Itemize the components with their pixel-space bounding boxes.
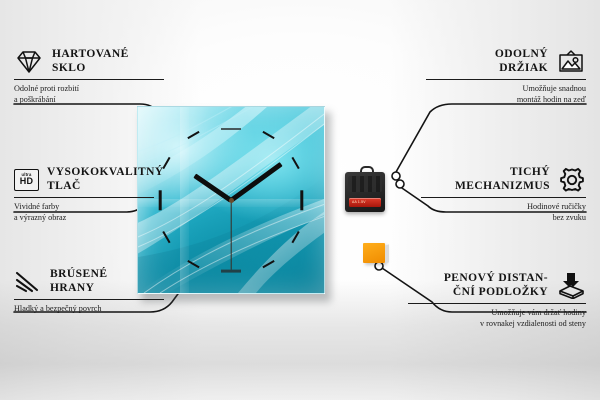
diamond-icon	[14, 49, 44, 75]
wall-clock	[137, 106, 327, 296]
product-infographic: AA 1.5V HARTOVANÉ SKLO Odolné proti rozb…	[0, 0, 600, 400]
picture-hanger-icon	[556, 49, 586, 75]
clock-tick	[301, 190, 304, 210]
connector-hanger	[396, 104, 586, 172]
feature-silent-mechanism: TICHÝ MECHANIZMUS Hodinové ručičky bez z…	[421, 166, 586, 223]
feature-title-line1: HARTOVANÉ	[52, 48, 129, 62]
mechanism-body: AA 1.5V	[345, 172, 385, 212]
feature-divider	[14, 299, 164, 300]
feature-tempered-glass: HARTOVANÉ SKLO Odolné proti rozbití a po…	[14, 48, 164, 105]
connector-dot-mechanism	[396, 180, 404, 188]
feature-title-line2: ČNÍ PODLOŽKY	[444, 286, 548, 300]
feature-title-line2: HRANY	[50, 282, 107, 296]
ultra-hd-icon: ultra HD	[14, 169, 39, 191]
hands-center-cap	[229, 198, 234, 203]
feature-title-line1: ODOLNÝ	[495, 48, 548, 62]
battery: AA 1.5V	[349, 198, 381, 207]
connector-dot-hanger	[392, 172, 400, 180]
feature-desc-line2: bez zvuku	[421, 213, 586, 224]
feature-desc-line1: Hodinové ručičky	[421, 202, 586, 213]
feature-title-line1: PENOVÝ DISTAN-	[444, 272, 548, 286]
feature-foam-spacers: PENOVÝ DISTAN- ČNÍ PODLOŽKY Umožňuje vám…	[408, 272, 586, 329]
mechanism-texture	[348, 176, 382, 192]
feature-desc-line1: Odolné proti rozbití	[14, 84, 164, 95]
feature-desc-line1: Umožňuje vám držať hodiny	[408, 308, 586, 319]
feature-desc-line1: Hladký a bezpečný povrch	[14, 304, 164, 315]
feature-desc-line2: v rovnakej vzdialenosti od steny	[408, 319, 586, 330]
clock-face	[137, 106, 325, 294]
feature-divider	[14, 79, 164, 80]
feature-polished-edges: BRÚSENÉ HRANY Hladký a bezpečný povrch	[14, 268, 164, 315]
feature-divider	[421, 197, 586, 198]
feature-desc-line1: Vividné farby	[14, 202, 154, 213]
second-hand	[230, 200, 231, 270]
feature-durable-hanger: ODOLNÝ DRŽIAK Umožňuje snadnou montáž ho…	[426, 48, 586, 105]
battery-label: AA 1.5V	[352, 200, 366, 204]
feature-desc-line1: Umožňuje snadnou	[426, 84, 586, 95]
feature-title-line1: VYSOKOKVALITNÝ	[47, 166, 164, 180]
feature-title-line2: SKLO	[52, 62, 129, 76]
press-down-pad-icon	[556, 272, 586, 299]
feature-desc-line2: montáž hodin na zeď	[426, 95, 586, 106]
feature-title-line2: MECHANIZMUS	[455, 180, 550, 194]
feature-divider	[426, 79, 586, 80]
foam-spacer-pad	[363, 243, 385, 263]
gear-icon	[558, 167, 586, 193]
feature-title-line2: TLAČ	[47, 180, 164, 194]
feature-title-line2: DRŽIAK	[495, 62, 548, 76]
foam-pad-side	[385, 244, 389, 263]
clock-tick	[221, 128, 241, 131]
diagonal-lines-icon	[14, 270, 42, 294]
connector-dot-spacers	[375, 262, 383, 270]
feature-desc-line2: a poškrábání	[14, 95, 164, 106]
clock-mechanism: AA 1.5V	[345, 172, 385, 212]
feature-divider	[408, 303, 586, 304]
clock-tick	[221, 270, 241, 273]
feature-divider	[14, 197, 154, 198]
feature-desc-line2: a výrazný obraz	[14, 213, 154, 224]
feature-title-line1: BRÚSENÉ	[50, 268, 107, 282]
ultra-hd-icon-main-text: HD	[20, 177, 33, 186]
feature-title-line1: TICHÝ	[455, 166, 550, 180]
feature-high-quality-print: ultra HD VYSOKOKVALITNÝ TLAČ Vividné far…	[14, 166, 154, 223]
